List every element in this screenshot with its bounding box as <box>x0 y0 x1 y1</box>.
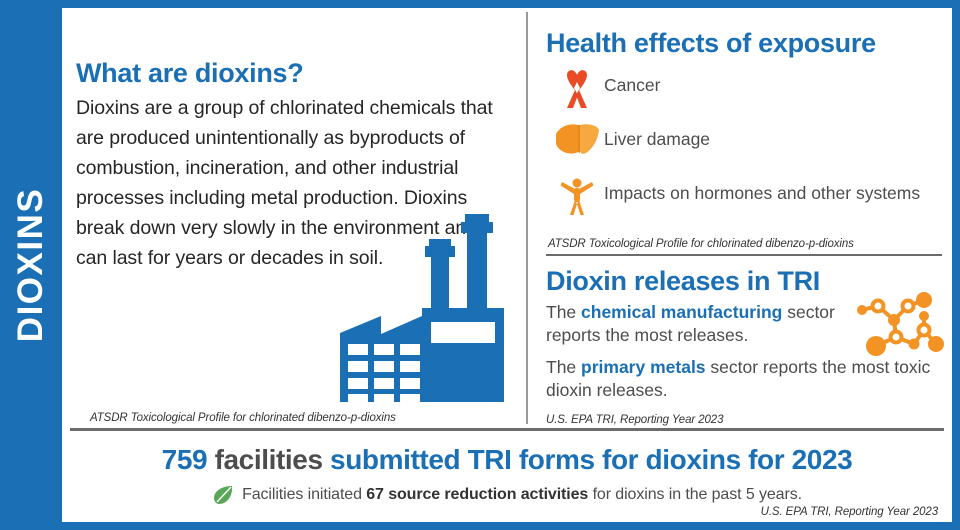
banner-sub-prefix: Facilities initiated <box>242 486 366 503</box>
what-are-dioxins-section: What are dioxins? Dioxins are a group of… <box>70 16 520 424</box>
tri-p2-emphasis: primary metals <box>581 357 706 377</box>
cancer-ribbon-icon <box>550 68 604 110</box>
side-band-label: DIOXINS <box>11 188 51 342</box>
banner-divider <box>70 428 944 431</box>
facility-count: 759 <box>162 444 208 475</box>
factory-icon <box>336 204 518 409</box>
person-icon <box>550 176 604 216</box>
banner-sub-suffix: for dioxins in the past 5 years. <box>588 486 802 503</box>
tri-p1-prefix: The <box>546 302 581 322</box>
right-section-divider <box>546 254 942 256</box>
liver-icon <box>550 122 604 158</box>
health-effects-title: Health effects of exposure <box>546 28 876 59</box>
tri-citation: U.S. EPA TRI, Reporting Year 2023 <box>546 414 723 426</box>
banner-citation: U.S. EPA TRI, Reporting Year 2023 <box>761 506 938 518</box>
page-title: What are dioxins? <box>76 58 506 89</box>
tri-paragraph-1: The chemical manufacturing sector report… <box>546 301 876 346</box>
side-band: DIOXINS <box>0 0 62 530</box>
summary-banner: 759 facilities submitted TRI forms for d… <box>70 432 944 518</box>
list-item-label: Impacts on hormones and other systems <box>604 176 920 204</box>
list-item: Liver damage <box>550 122 940 164</box>
list-item-label: Liver damage <box>604 122 710 150</box>
molecule-icon <box>854 292 946 362</box>
tri-p1-emphasis: chemical manufacturing <box>581 302 782 322</box>
banner-sub-emphasis: 67 source reduction activities <box>366 486 588 503</box>
banner-headline: 759 facilities submitted TRI forms for d… <box>70 444 944 476</box>
column-divider <box>526 12 528 424</box>
leaf-icon <box>212 484 234 506</box>
banner-subline: Facilities initiated 67 source reduction… <box>70 484 944 506</box>
dioxins-infographic: DIOXINS What are dioxins? Dioxins are a … <box>0 0 960 530</box>
left-citation: ATSDR Toxicological Profile for chlorina… <box>90 412 510 424</box>
list-item: Impacts on hormones and other systems <box>550 176 940 218</box>
content-card: What are dioxins? Dioxins are a group of… <box>62 8 952 522</box>
health-effects-list: Cancer Liver damage <box>550 68 940 230</box>
list-item: Cancer <box>550 68 940 110</box>
banner-sub-text: Facilities initiated 67 source reduction… <box>242 486 802 504</box>
list-item-label: Cancer <box>604 68 660 96</box>
tri-p2-prefix: The <box>546 357 581 377</box>
health-citation: ATSDR Toxicological Profile for chlorina… <box>548 238 938 250</box>
dioxin-releases-section: Dioxin releases in TRI The chemical manu… <box>546 266 946 411</box>
tri-paragraph-2: The primary metals sector reports the mo… <box>546 356 936 401</box>
banner-headline-rest: submitted TRI forms for dioxins for 2023 <box>323 444 853 475</box>
facility-count-suffix: facilities <box>207 444 322 475</box>
